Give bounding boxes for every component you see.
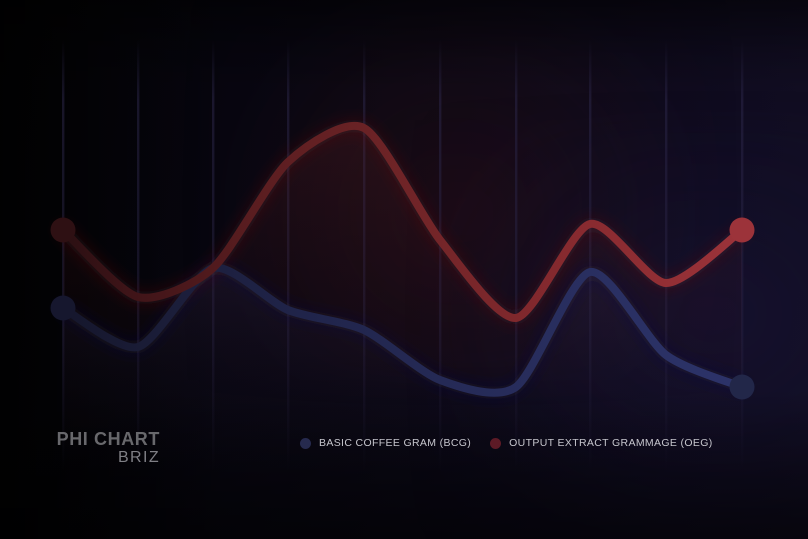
legend-item-bcg[interactable]: BASIC COFFEE GRAM (BCG) <box>300 437 471 449</box>
legend-dot-icon <box>300 438 311 449</box>
legend-dot-icon <box>490 438 501 449</box>
endpoint-marker-oeg-end[interactable] <box>730 218 755 243</box>
brand-title-sub: BRIZ <box>52 450 160 466</box>
brand-title-main: PHI CHART <box>52 430 160 448</box>
chart-legend: BASIC COFFEE GRAM (BCG) OUTPUT EXTRACT G… <box>300 437 713 449</box>
endpoint-marker-oeg-start[interactable] <box>51 218 76 243</box>
chart-canvas: PHI CHART BRIZ BASIC COFFEE GRAM (BCG) O… <box>0 0 808 539</box>
brand-title-block: PHI CHART BRIZ <box>52 430 160 466</box>
endpoint-marker-bcg-end[interactable] <box>730 375 755 400</box>
legend-label-bcg: BASIC COFFEE GRAM (BCG) <box>319 437 471 449</box>
legend-label-oeg: OUTPUT EXTRACT GRAMMAGE (OEG) <box>509 437 712 449</box>
endpoint-marker-bcg-start[interactable] <box>51 296 76 321</box>
legend-item-oeg[interactable]: OUTPUT EXTRACT GRAMMAGE (OEG) <box>490 437 712 449</box>
